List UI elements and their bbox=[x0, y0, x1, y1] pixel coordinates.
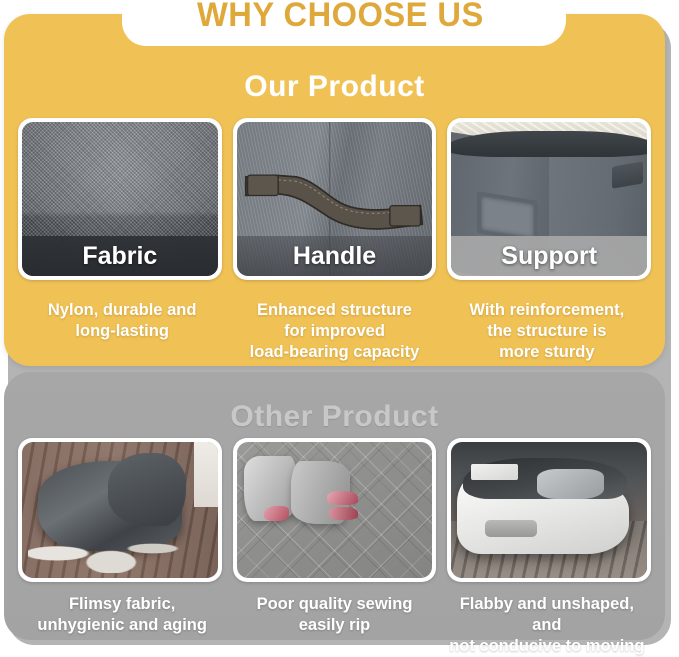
other-product-heading: Other Product bbox=[4, 400, 665, 434]
card-fabric[interactable]: Fabric bbox=[18, 118, 222, 280]
bag-contents-paper bbox=[471, 464, 518, 480]
card-flimsy-fabric[interactable] bbox=[18, 438, 222, 582]
our-product-panel: Our Product Fabric bbox=[4, 14, 665, 366]
title-tab: WHY CHOOSE US bbox=[122, 0, 558, 46]
fabric-label: Fabric bbox=[22, 236, 218, 276]
collapsed-bin-photo bbox=[22, 442, 218, 578]
why-choose-us-infographic: Our Product Fabric bbox=[0, 0, 679, 645]
pink-lining-rip-3 bbox=[329, 507, 358, 519]
collapsed-fabric-heap-secondary bbox=[108, 453, 186, 526]
support-photo: Support bbox=[451, 122, 647, 276]
bag-side-handle bbox=[485, 520, 538, 538]
box-top-rim bbox=[451, 131, 647, 157]
card-flabby-unshaped[interactable] bbox=[447, 438, 651, 582]
card-poor-sewing[interactable] bbox=[233, 438, 437, 582]
leather-handle-strap bbox=[244, 165, 424, 233]
pink-lining-rip-1 bbox=[264, 506, 289, 521]
handle-label: Handle bbox=[237, 236, 433, 276]
caption-handle: Enhanced structure for improved load-bea… bbox=[228, 300, 440, 363]
caption-flabby-unshaped: Flabby and unshaped, and not conducive t… bbox=[441, 594, 653, 657]
caption-flimsy-fabric: Flimsy fabric, unhygienic and aging bbox=[16, 594, 228, 657]
white-baseboard bbox=[194, 442, 217, 507]
card-handle[interactable]: Handle bbox=[233, 118, 437, 280]
our-product-heading: Our Product bbox=[4, 70, 665, 104]
flabby-bag-photo bbox=[451, 442, 647, 578]
caption-support: With reinforcement, the structure is mor… bbox=[441, 300, 653, 363]
support-label: Support bbox=[451, 236, 647, 276]
other-product-panel: Other Product bbox=[4, 372, 665, 640]
other-product-caption-row: Flimsy fabric, unhygienic and aging Poor… bbox=[4, 594, 665, 657]
page-title: WHY CHOOSE US bbox=[197, 0, 484, 32]
caption-poor-sewing: Poor quality sewing easily rip bbox=[228, 594, 440, 657]
pink-lining-rip-2 bbox=[327, 491, 358, 505]
card-support[interactable]: Support bbox=[447, 118, 651, 280]
our-product-card-row: Fabric Handle bbox=[4, 118, 665, 280]
debris-scraps bbox=[28, 524, 188, 573]
quilted-bag-photo bbox=[237, 442, 433, 578]
fabric-photo: Fabric bbox=[22, 122, 218, 276]
caption-fabric: Nylon, durable and long-lasting bbox=[16, 300, 228, 363]
bag-clear-window bbox=[537, 469, 604, 499]
our-product-caption-row: Nylon, durable and long-lasting Enhanced… bbox=[4, 300, 665, 363]
other-product-card-row bbox=[4, 438, 665, 582]
handle-photo: Handle bbox=[237, 122, 433, 276]
